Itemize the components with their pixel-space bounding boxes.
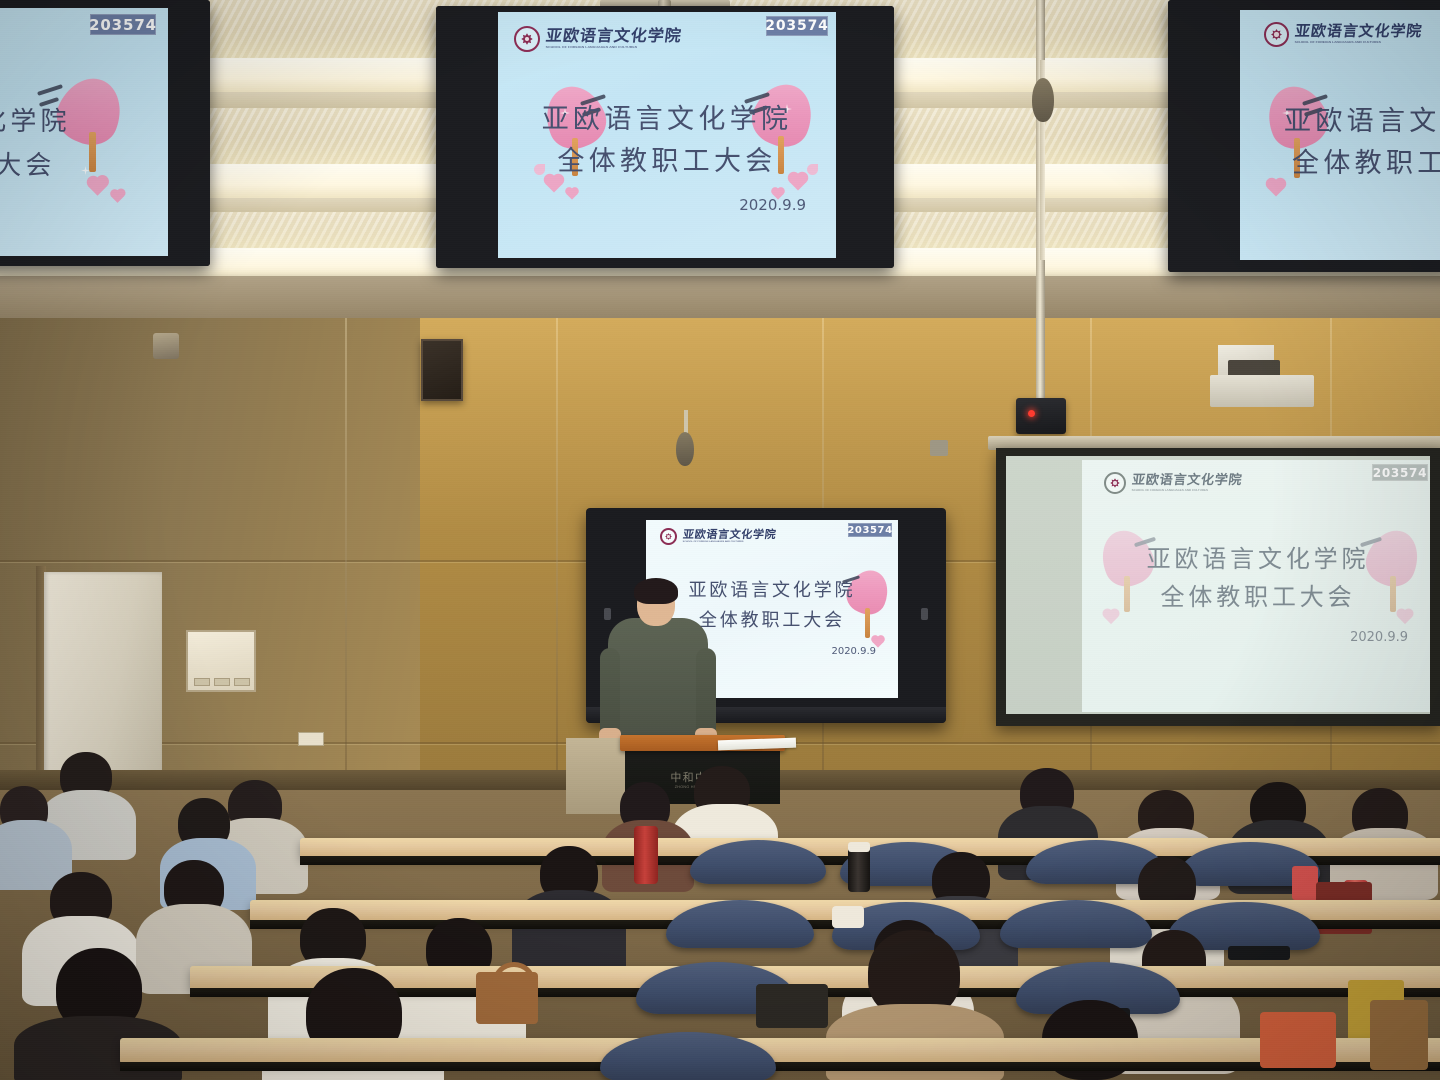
wall-control-panel[interactable] [186,630,256,692]
wall-seam-2 [556,318,558,788]
slide-logo-cn: 亚欧语言文化学院 [1294,24,1423,39]
slide-title-line1: 亚欧语言文化学院 [646,578,898,604]
monitor-center-panel: 亚欧语言文化学院 SCHOOL OF FOREIGN LANGUAGES AND… [498,12,836,258]
heart-icon [566,188,577,199]
school-seal-icon [514,26,540,52]
equipment-shelf [1210,375,1314,407]
slide-logo-words: 亚欧语言文化学院 SCHOOL OF FOREIGN LANGUAGES AND… [546,28,682,50]
school-seal-icon [1104,472,1126,494]
projection-screen-surface: 亚欧语言文化学院 SCHOOL OF FOREIGN LANGUAGES AND… [1006,456,1430,714]
smartboard-side-button[interactable] [604,608,611,620]
fan-stem-icon [89,132,96,172]
slide-title-line2: 全体教职工大会 [1082,580,1430,615]
projected-image: 亚欧语言文化学院 SCHOOL OF FOREIGN LANGUAGES AND… [1082,460,1430,712]
wall-panel-switch-1[interactable] [194,678,210,686]
slide-logo-en: SCHOOL OF FOREIGN LANGUAGES AND CULTURES [1295,42,1422,45]
heart-icon [88,177,106,195]
ceiling-monitor-left: 亚欧语言文化学院 全体教职工大会 2020.9.9 203574 [0,0,210,266]
monitor-right-panel: 亚欧语言文化学院 SCHOOL OF FOREIGN LANGUAGES AND… [1240,10,1440,260]
slide-projected: 亚欧语言文化学院 SCHOOL OF FOREIGN LANGUAGES AND… [1082,460,1430,712]
slide-room-badge: 203574 [1372,464,1428,481]
school-seal-icon [660,528,677,545]
heart-icon [111,190,124,203]
ceiling-sensor-icon-2 [930,440,948,456]
slide-title-line1: 亚欧语言文化学院 [498,100,836,139]
handbag-tan [1370,1000,1428,1070]
door-open[interactable] [44,572,162,788]
slide-date: 2020.9.9 [1350,630,1408,645]
thermos-red [634,826,658,884]
slide-logo: 亚欧语言文化学院 SCHOOL OF FOREIGN LANGUAGES AND… [1264,22,1422,47]
slide-title-line1: 亚欧语言文化学院 [1284,102,1440,141]
slide-room-badge: 203574 [848,523,892,537]
phone-dark [1228,946,1290,960]
wall-speaker-icon [421,339,463,401]
projection-screen: 亚欧语言文化学院 SCHOOL OF FOREIGN LANGUAGES AND… [996,448,1440,726]
school-seal-icon [1264,22,1289,47]
lecture-hall-photo: 亚欧语言文化学院 全体教职工大会 2020.9.9 203574 亚欧语言文化学… [0,0,1440,1080]
slide-room-badge: 203574 [90,14,156,35]
slide-logo: 亚欧语言文化学院 SCHOOL OF FOREIGN LANGUAGES AND… [514,26,681,52]
thermos-black [848,846,870,892]
desk-row [120,1038,1440,1064]
podium-side-cabinet [566,738,628,814]
slide-title-line2: 全体教职工大会 [498,142,836,181]
hanging-mic-icon-2 [676,432,694,466]
ceiling-sensor-icon [153,333,179,359]
ceiling-monitor-right: 亚欧语言文化学院 SCHOOL OF FOREIGN LANGUAGES AND… [1168,0,1440,272]
ceiling-projector-icon [1016,398,1066,434]
slide-logo-cn: 亚欧语言文化学院 [1131,474,1243,487]
wall-panel-switch-2[interactable] [214,678,230,686]
wall-socket[interactable] [298,732,324,746]
slide-center: 亚欧语言文化学院 SCHOOL OF FOREIGN LANGUAGES AND… [498,12,836,258]
slide-room-badge: 203574 [766,16,828,36]
folder-orange [1260,1012,1336,1068]
slide-title-line2: 全体教职工大会 [1292,144,1440,183]
slide-logo: 亚欧语言文化学院 SCHOOL OF FOREIGN LANGUAGES AND… [660,528,776,545]
ceiling-monitor-center: 亚欧语言文化学院 SCHOOL OF FOREIGN LANGUAGES AND… [436,6,894,268]
slide-title-line1: 亚欧语言文化学院 [0,104,80,142]
speaker-hair [634,578,678,604]
monitor-left-panel: 亚欧语言文化学院 全体教职工大会 2020.9.9 203574 [0,8,168,256]
speaker-torso [608,618,708,746]
slide-decor-right [716,80,826,200]
slide-logo-en: SCHOOL OF FOREIGN LANGUAGES AND CULTURES [546,47,682,50]
slide-logo-cn: 亚欧语言文化学院 [682,529,777,540]
heart-icon [1268,180,1285,197]
handbag-black [756,984,828,1028]
slide-right: 亚欧语言文化学院 SCHOOL OF FOREIGN LANGUAGES AND… [1240,10,1440,260]
slide-logo-words: 亚欧语言文化学院 SCHOOL OF FOREIGN LANGUAGES AND… [683,529,776,543]
slide-logo-en: SCHOOL OF FOREIGN LANGUAGES AND CULTURES [1132,489,1242,491]
slide-left: 亚欧语言文化学院 全体教职工大会 2020.9.9 203574 [0,8,168,256]
sparkle-icon [81,166,90,175]
slide-logo-en: SCHOOL OF FOREIGN LANGUAGES AND CULTURES [683,542,776,544]
slide-date: 2020.9.9 [831,646,876,657]
slide-logo-cn: 亚欧语言文化学院 [545,28,683,44]
wall-panel-switch-3[interactable] [234,678,250,686]
slide-title-line1: 亚欧语言文化学院 [1082,542,1430,577]
slide-date: 2020.9.9 [739,196,806,214]
smartboard-side-button[interactable] [921,608,928,620]
slide-logo: 亚欧语言文化学院 SCHOOL OF FOREIGN LANGUAGES AND… [1104,472,1242,494]
wall-seam-1 [345,318,347,788]
cup-white [832,906,864,928]
cup-red [1292,866,1318,900]
thermos-cap [848,842,870,852]
slide-title-line2: 全体教职工大会 [0,148,80,186]
dash-decor-icon [37,84,63,96]
projector-power-led-icon [1028,410,1035,417]
slide-logo-words: 亚欧语言文化学院 SCHOOL OF FOREIGN LANGUAGES AND… [1132,474,1242,492]
hanging-mic-icon [1032,78,1054,122]
slide-logo-words: 亚欧语言文化学院 SCHOOL OF FOREIGN LANGUAGES AND… [1295,24,1422,44]
